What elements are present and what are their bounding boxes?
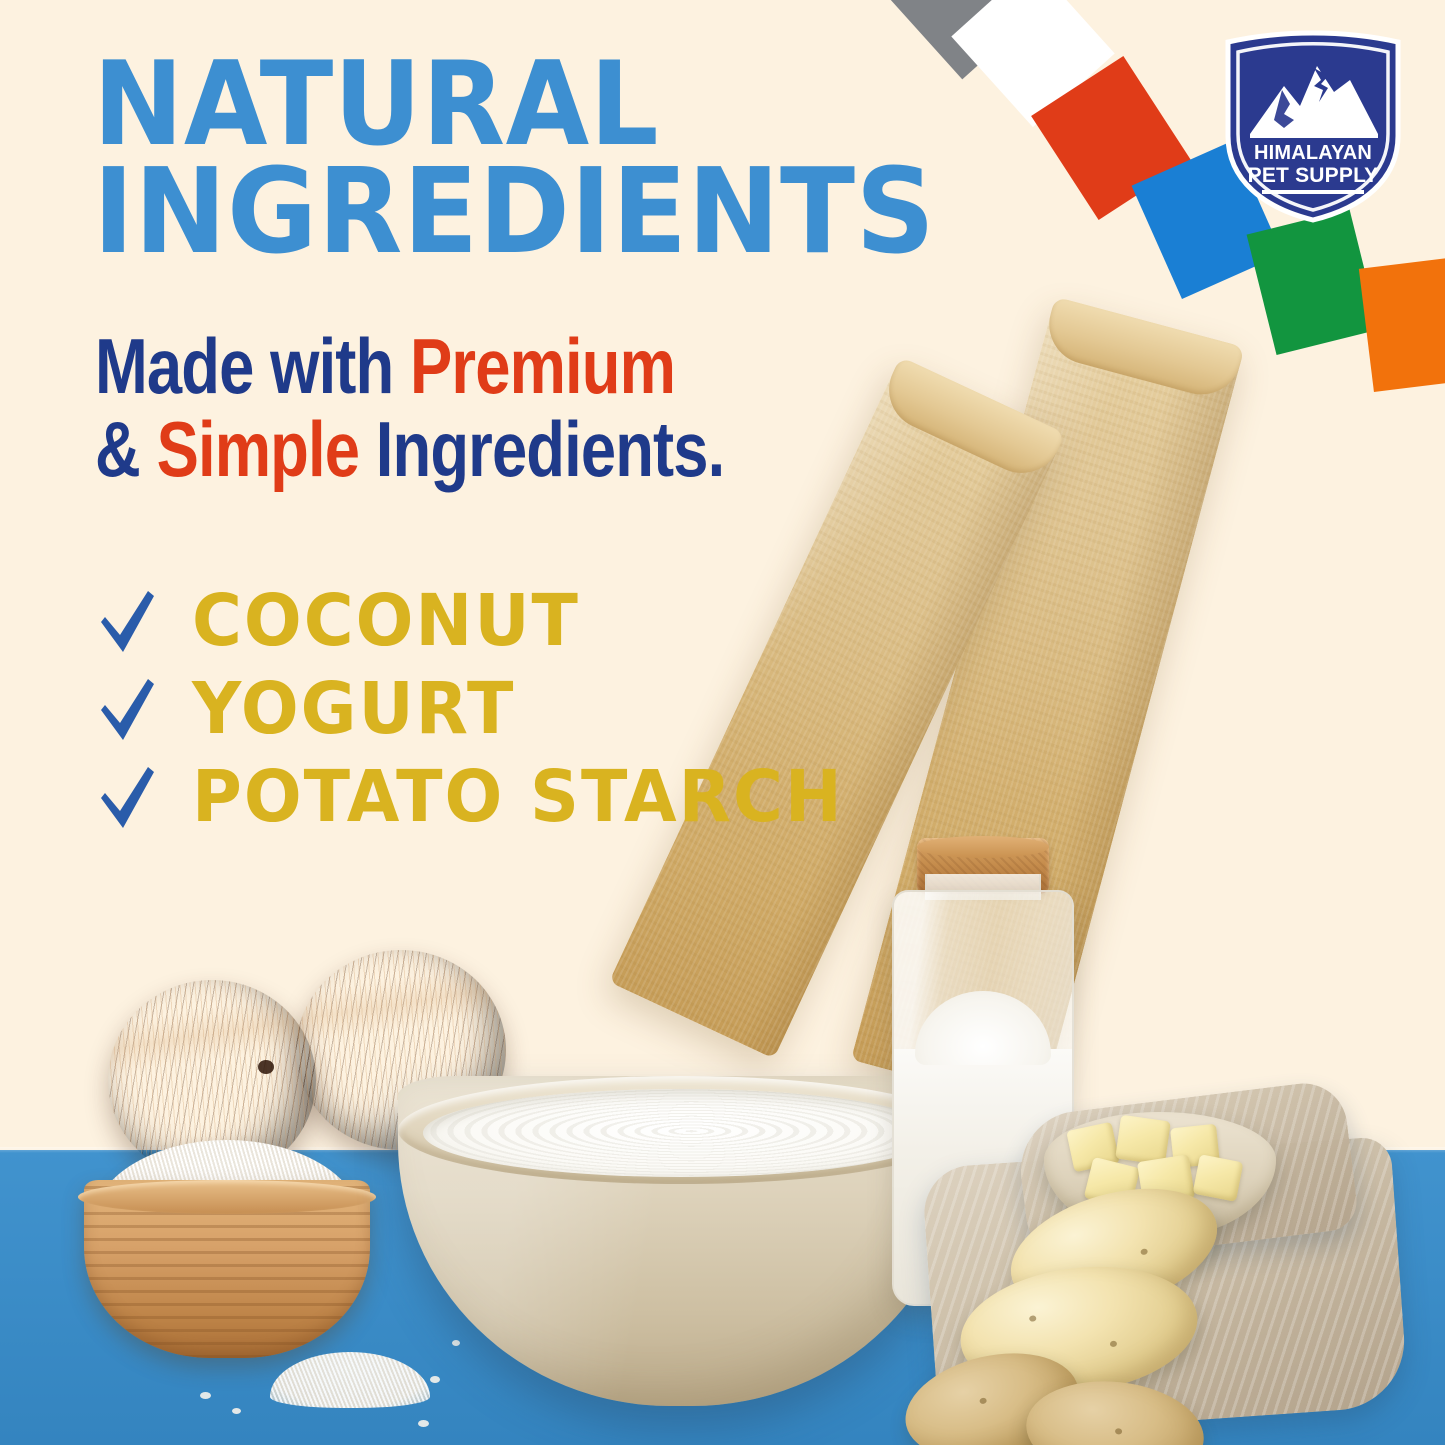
- logo-line2-text: PET SUPPLY: [1248, 164, 1379, 187]
- subheadline-ingredients: Ingredients.: [359, 407, 724, 493]
- list-item: COCONUT: [92, 578, 972, 666]
- check-mark-icon: [92, 765, 192, 831]
- shredded-coconut-basket: [84, 1180, 370, 1358]
- subheadline-line-2: & Simple Ingredients.: [95, 409, 869, 492]
- coconut-crumb: [200, 1392, 211, 1399]
- checklist-label-potato-starch: POTATO STARCH: [192, 762, 844, 833]
- yogurt-bowl: [398, 1076, 964, 1406]
- checklist-label-yogurt: YOGURT: [192, 674, 515, 745]
- subheadline-simple: Simple: [157, 407, 359, 493]
- subheadline: Made with Premium & Simple Ingredients.: [95, 326, 869, 492]
- list-item: POTATO STARCH: [92, 754, 972, 842]
- flag-orange: [1359, 256, 1445, 392]
- yogurt-surface: [423, 1089, 939, 1177]
- coconut-crumb: [232, 1408, 241, 1414]
- list-item: YOGURT: [92, 666, 972, 754]
- check-mark-icon: [92, 677, 192, 743]
- checklist-label-coconut: COCONUT: [192, 586, 580, 657]
- subheadline-made-with: Made with: [95, 324, 410, 410]
- subheadline-premium: Premium: [410, 324, 675, 410]
- subheadline-line-1: Made with Premium: [95, 326, 869, 409]
- product-marketing-image: HIMALAYAN PET SUPPLY NATURAL INGREDIENTS…: [0, 0, 1445, 1445]
- check-mark-icon: [92, 589, 192, 655]
- subheadline-ampersand: &: [95, 407, 157, 493]
- coconut-crumb: [418, 1420, 429, 1427]
- ingredient-checklist: COCONUT YOGURT POTATO STARCH: [92, 578, 972, 842]
- himalayan-pet-supply-logo: HIMALAYAN PET SUPPLY: [1222, 28, 1404, 224]
- headline-line-2: INGREDIENTS: [93, 158, 993, 266]
- logo-line1-text: HIMALAYAN: [1254, 142, 1372, 164]
- page-title: NATURAL INGREDIENTS: [93, 52, 993, 267]
- potato-dice: [1193, 1154, 1244, 1202]
